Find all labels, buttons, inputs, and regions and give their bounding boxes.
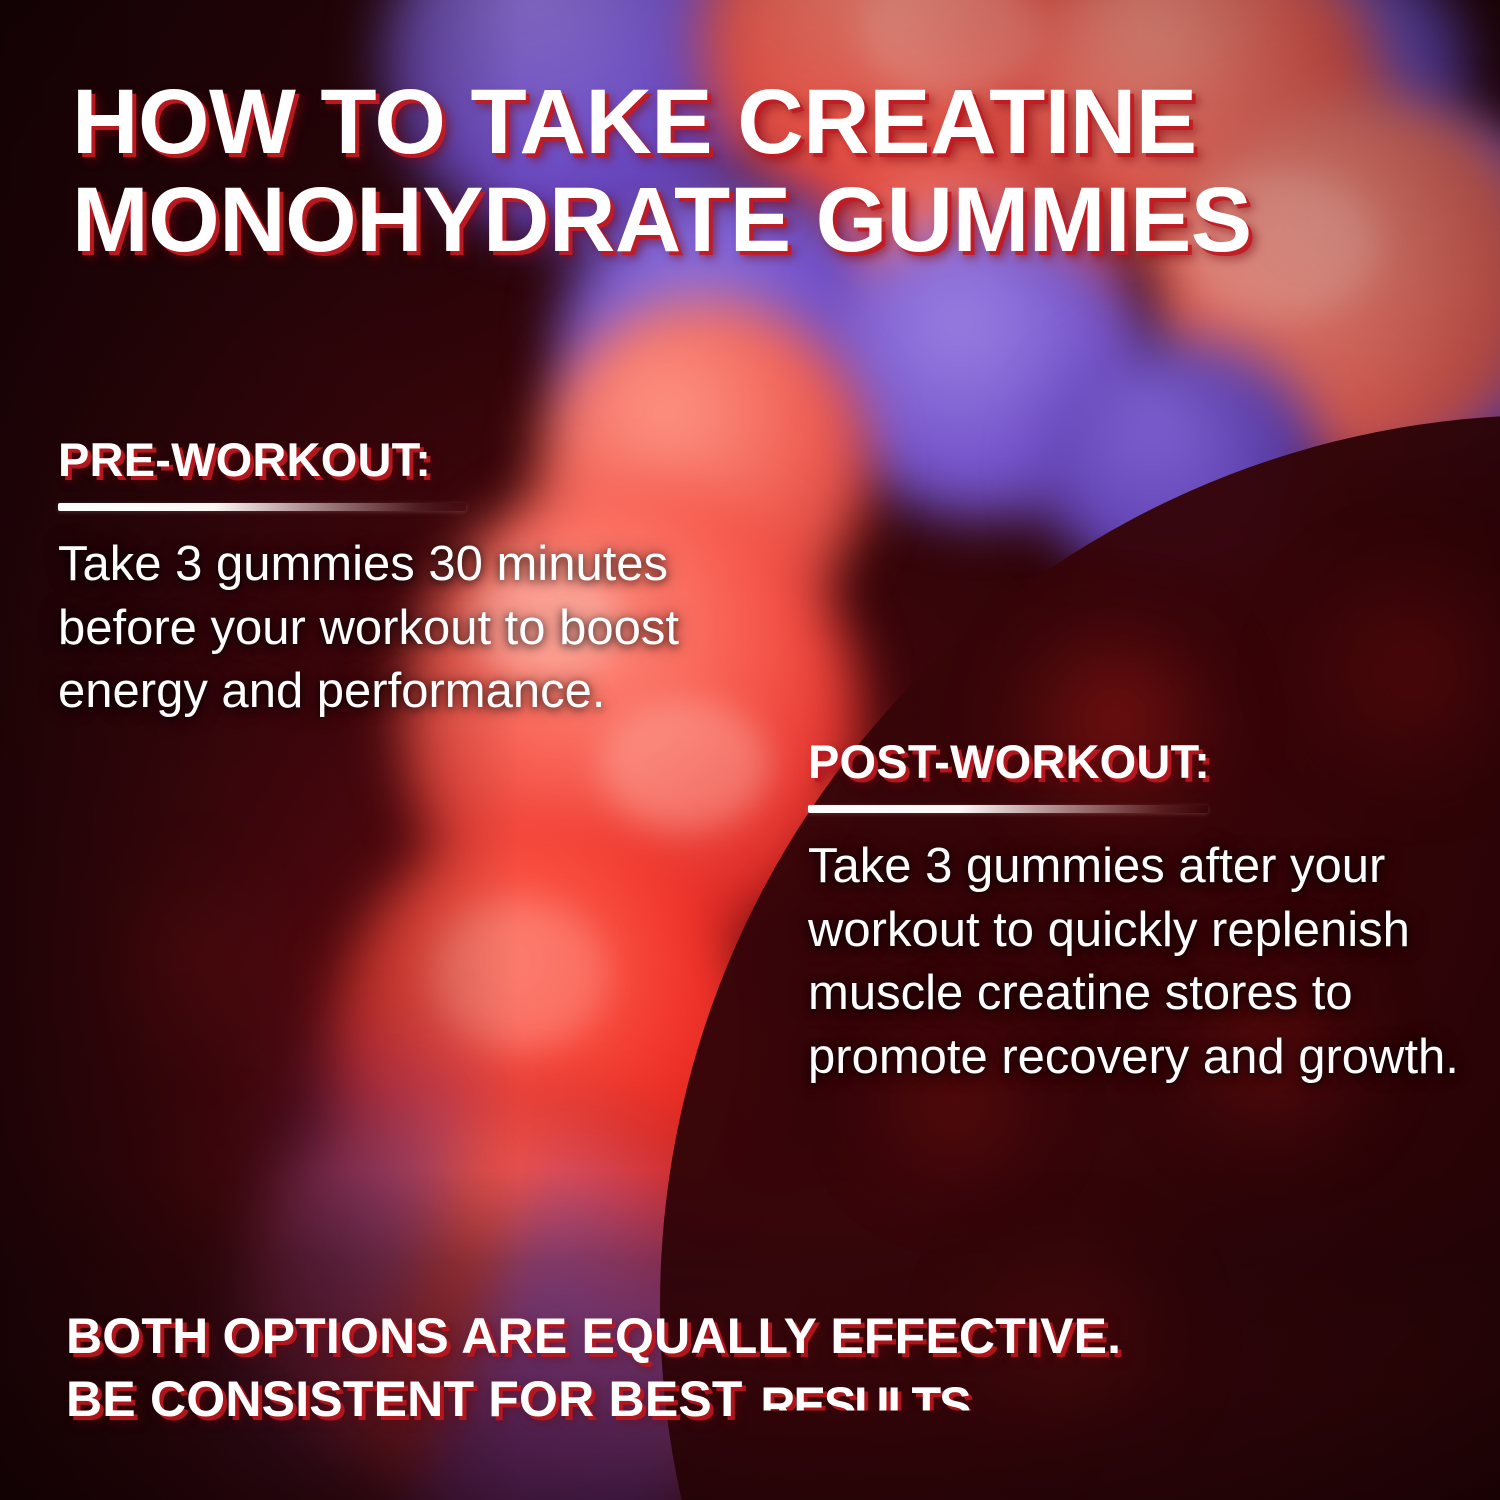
section-pre-workout: PRE-WORKOUT: Take 3 gummies 30 minutes b… — [58, 432, 758, 724]
post-workout-heading: POST-WORKOUT: — [808, 734, 1468, 789]
section-post-workout: POST-WORKOUT: Take 3 gummies after your … — [808, 734, 1468, 1090]
infographic-poster: HOW TO TAKE CREATINE MONOHYDRATE GUMMIES… — [0, 0, 1500, 1500]
closing-line-2-prefix: BE CONSISTENT FOR BEST — [66, 1371, 757, 1427]
closing-statement: BOTH OPTIONS ARE EQUALLY EFFECTIVE. BE C… — [66, 1305, 1366, 1431]
pre-workout-body: Take 3 gummies 30 minutes before your wo… — [58, 533, 758, 724]
content-layer: HOW TO TAKE CREATINE MONOHYDRATE GUMMIES… — [0, 0, 1500, 1500]
closing-line-1: BOTH OPTIONS ARE EQUALLY EFFECTIVE. — [66, 1308, 1121, 1364]
page-title: HOW TO TAKE CREATINE MONOHYDRATE GUMMIES — [72, 74, 1482, 269]
closing-line-2-word: RESULTS. — [760, 1374, 981, 1437]
post-workout-divider — [808, 805, 1208, 813]
closing-line-2: BE CONSISTENT FOR BEST RESULTS. — [66, 1368, 1366, 1431]
post-workout-body: Take 3 gummies after your workout to qui… — [808, 835, 1468, 1090]
pre-workout-divider — [58, 503, 466, 511]
pre-workout-heading: PRE-WORKOUT: — [58, 432, 758, 487]
title-line-2: MONOHYDRATE GUMMIES — [72, 172, 1482, 270]
title-line-1: HOW TO TAKE CREATINE — [72, 71, 1197, 173]
